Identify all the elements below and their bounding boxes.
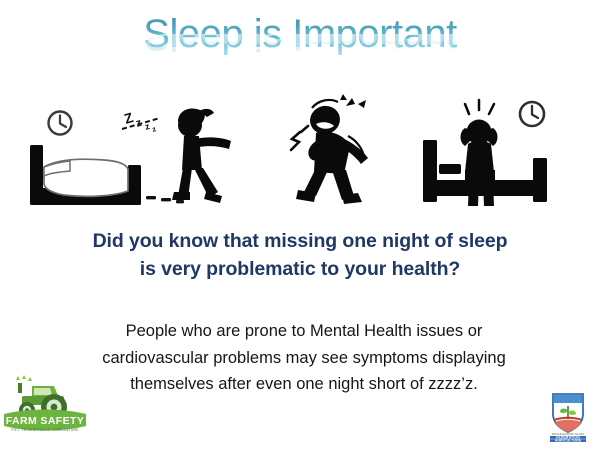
stress-lines-icon — [465, 100, 494, 114]
svg-text:z: z — [151, 124, 157, 134]
sleepwalker-figure — [172, 109, 231, 204]
farm-safety-title: FARM SAFETY — [6, 415, 85, 427]
pictogram-chest-pain — [272, 92, 390, 217]
slide-canvas: Sleep is Important Sleep is Important — [0, 0, 600, 450]
body-line-3: themselves after even one night short of… — [28, 371, 580, 398]
zzz-icon: Z z z z — [122, 109, 160, 134]
headline-line-1: Did you know that missing one night of s… — [93, 230, 508, 252]
body-line-2: cardiovascular problems may see symptoms… — [28, 345, 580, 372]
farm-safety-subtitle: P.E.I. FEDERATION OF AGRICULTURE — [11, 428, 79, 432]
pictogram-sleepwalking-empty-bed: Z z z z — [18, 92, 268, 217]
federation-line-2: AGRICULTURE — [555, 439, 582, 442]
shield-crest-icon — [553, 394, 583, 432]
clock-icon — [520, 102, 544, 126]
farm-safety-logo: FARM SAFETY P.E.I. FEDERATION OF AGRICUL… — [2, 374, 88, 436]
page-title-reflection: Sleep is Important — [0, 34, 600, 56]
exhaust-icon — [16, 375, 32, 381]
headline: Did you know that missing one night of s… — [30, 228, 570, 283]
chest-pain-figure — [296, 102, 368, 204]
pain-lines-icon — [291, 126, 308, 150]
federation-of-agriculture-logo: PRINCE EDWARD ISLAND FEDERATION AGRICULT… — [546, 392, 590, 442]
impact-burst-icon — [340, 94, 366, 108]
pictogram-insomnia — [415, 92, 570, 217]
pictogram-band: Z z z z — [0, 92, 600, 217]
clock-icon — [49, 112, 72, 135]
body-paragraph: People who are prone to Mental Health is… — [28, 318, 580, 398]
headline-line-2: is very problematic to your health? — [140, 258, 461, 280]
body-line-1: People who are prone to Mental Health is… — [28, 318, 580, 345]
title-block: Sleep is Important Sleep is Important — [0, 14, 600, 78]
